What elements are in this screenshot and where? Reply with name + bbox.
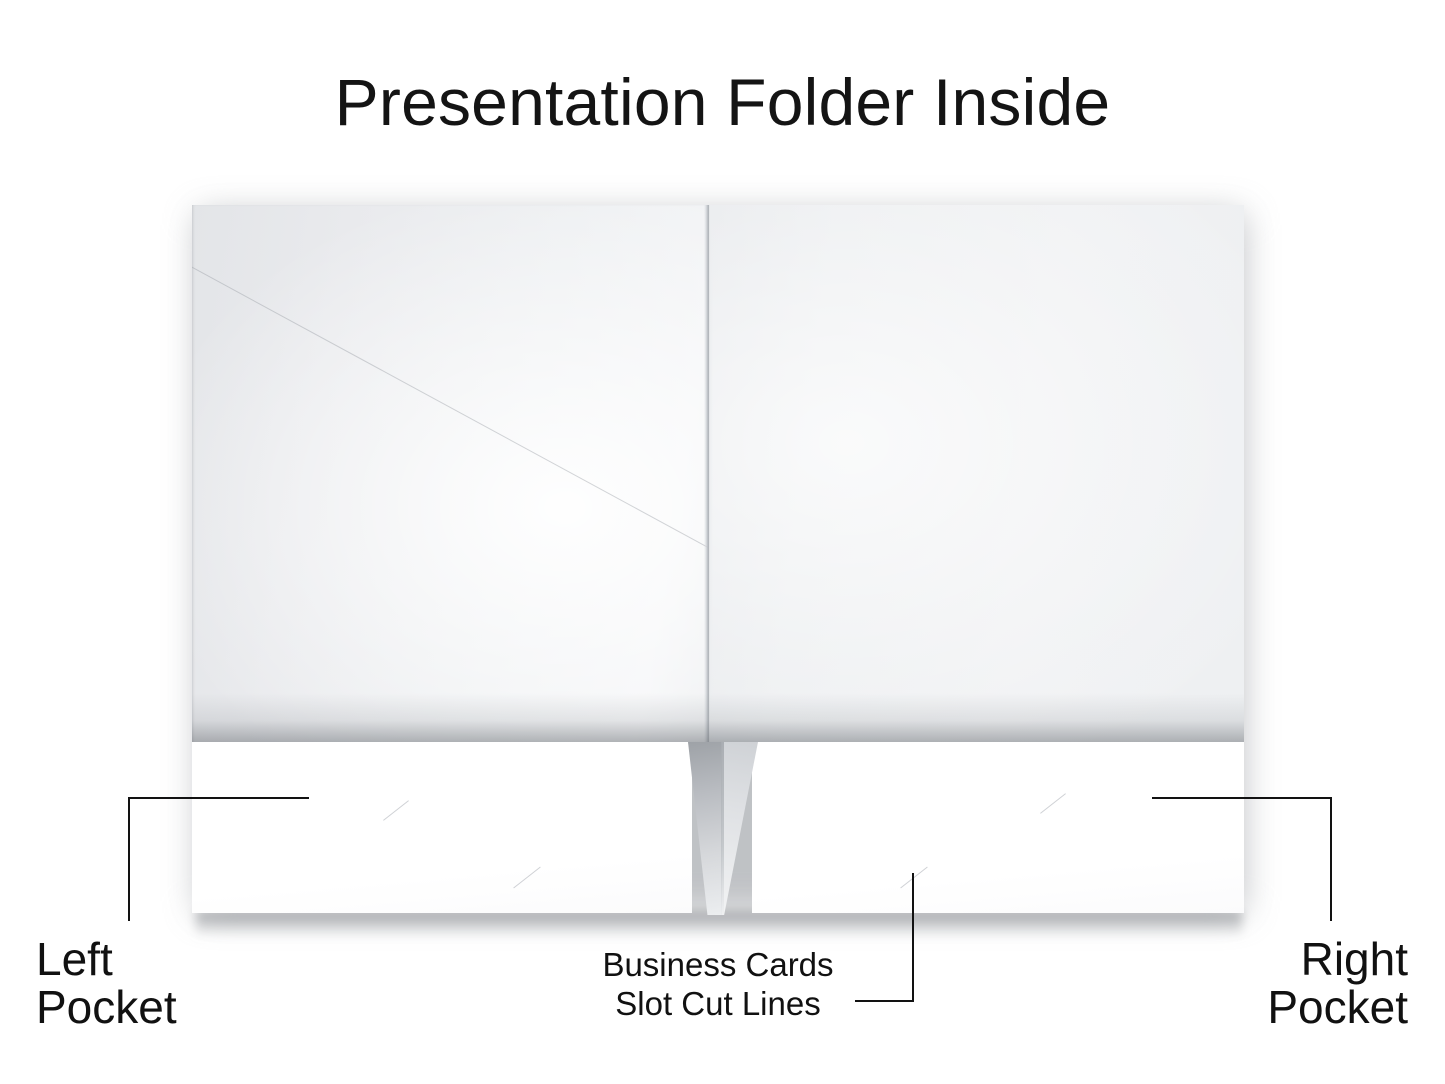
page-title: Presentation Folder Inside xyxy=(0,68,1445,137)
business-cards-slot-callout: Business Cards Slot Cut Lines xyxy=(468,946,968,1024)
left-pocket-panel xyxy=(192,742,692,913)
left-pocket-leader-horizontal xyxy=(128,797,309,799)
left-pocket-leader-vertical xyxy=(128,797,130,921)
folder-right-panel xyxy=(708,205,1244,745)
mockup-canvas: Presentation Folder Inside xyxy=(0,0,1445,1084)
notch-wedge-right xyxy=(722,742,758,915)
notch-wedge-left xyxy=(688,742,724,915)
right-pocket-callout-line1: Right xyxy=(1108,936,1408,984)
presentation-folder-mockup xyxy=(192,205,1244,913)
right-pocket-callout: Right Pocket xyxy=(1108,936,1408,1032)
center-v-notch xyxy=(688,742,756,915)
right-pocket-callout-line2: Pocket xyxy=(1108,984,1408,1032)
notch-crease-line xyxy=(721,742,724,915)
left-pocket-callout-line2: Pocket xyxy=(36,984,336,1032)
folder-left-panel xyxy=(192,205,708,745)
left-pocket-callout: Left Pocket xyxy=(36,936,336,1032)
left-pocket-callout-line1: Left xyxy=(36,936,336,984)
slot-callout-line1: Business Cards xyxy=(468,946,968,985)
slot-callout-line2: Slot Cut Lines xyxy=(468,985,968,1024)
folder-spine-line xyxy=(708,205,709,745)
right-pocket-leader-horizontal xyxy=(1152,797,1332,799)
panel-sheen-highlight xyxy=(192,245,708,589)
right-pocket-leader-vertical xyxy=(1330,797,1332,921)
right-pocket-panel xyxy=(752,742,1244,913)
